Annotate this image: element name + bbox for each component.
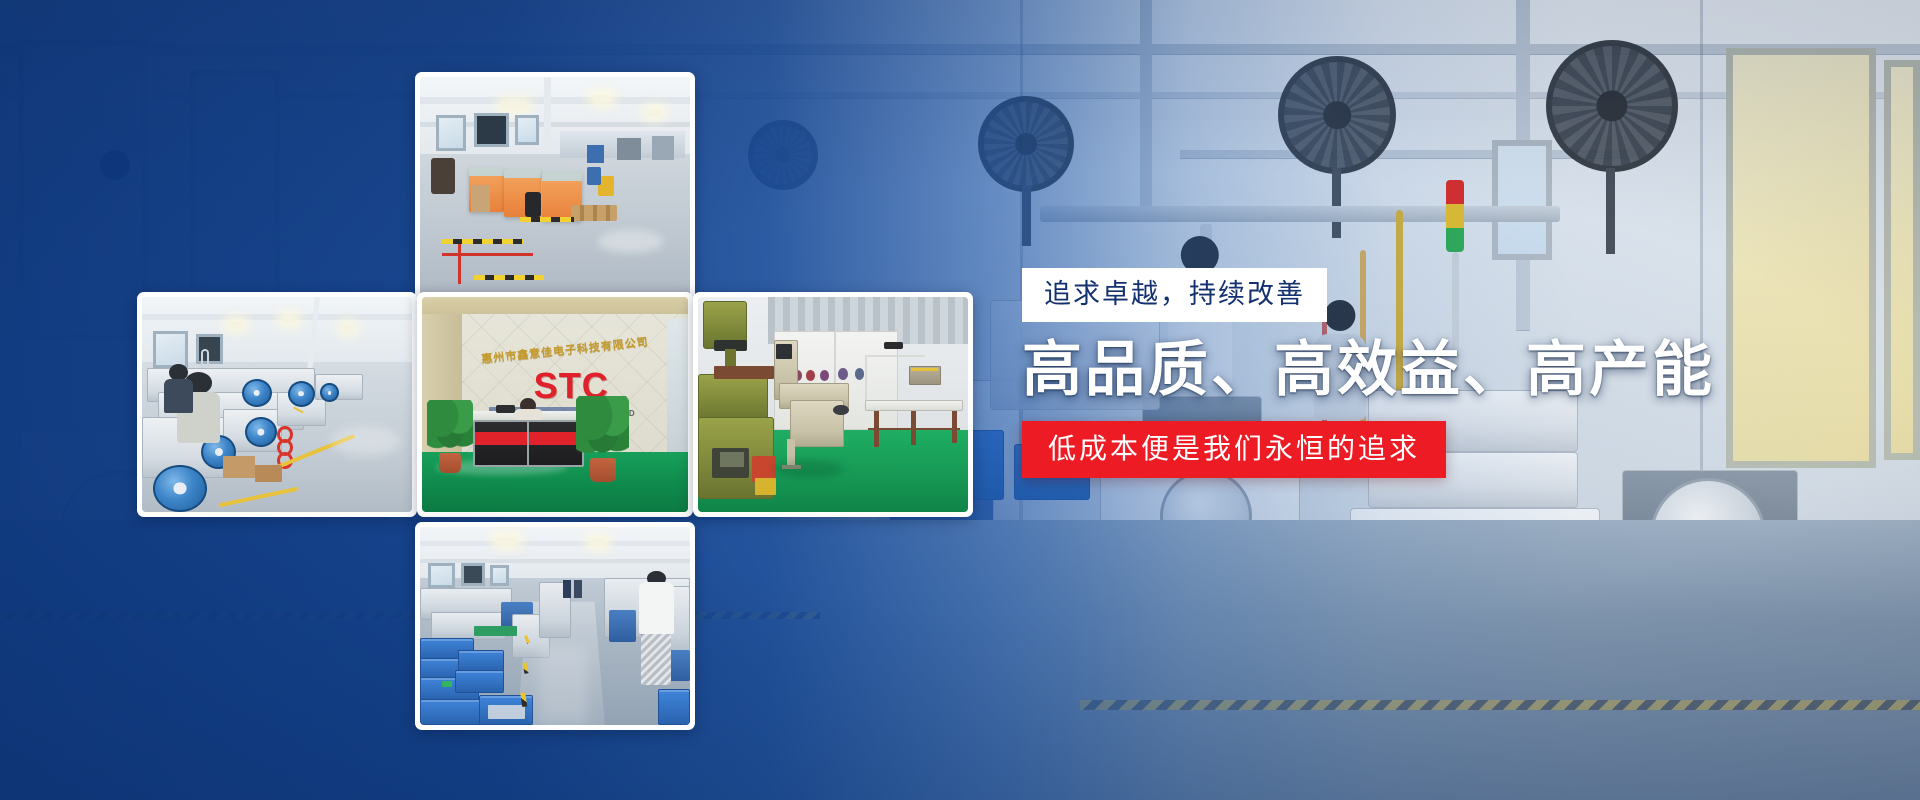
- banner-subtext-red-bar: 低成本便是我们永恒的追求: [1022, 421, 1446, 478]
- collage-photo-workshop-top: [415, 72, 695, 307]
- photo-collage: 惠州市鑫意佳电子科技有限公司 STC CO., LTD: [0, 0, 1000, 800]
- banner-tagline: 追求卓越，持续改善: [1022, 268, 1327, 322]
- collage-photo-production-line: [137, 292, 417, 517]
- hero-banner: 惠州市鑫意佳电子科技有限公司 STC CO., LTD: [0, 0, 1920, 800]
- collage-photo-reception: 惠州市鑫意佳电子科技有限公司 STC CO., LTD: [417, 292, 693, 517]
- banner-headline: 高品质、高效益、高产能: [1022, 338, 1782, 403]
- collage-photo-machine-shop: [693, 292, 973, 517]
- banner-text-block: 追求卓越，持续改善 高品质、高效益、高产能 低成本便是我们永恒的追求: [1022, 268, 1782, 478]
- collage-photo-aisle: [415, 522, 695, 730]
